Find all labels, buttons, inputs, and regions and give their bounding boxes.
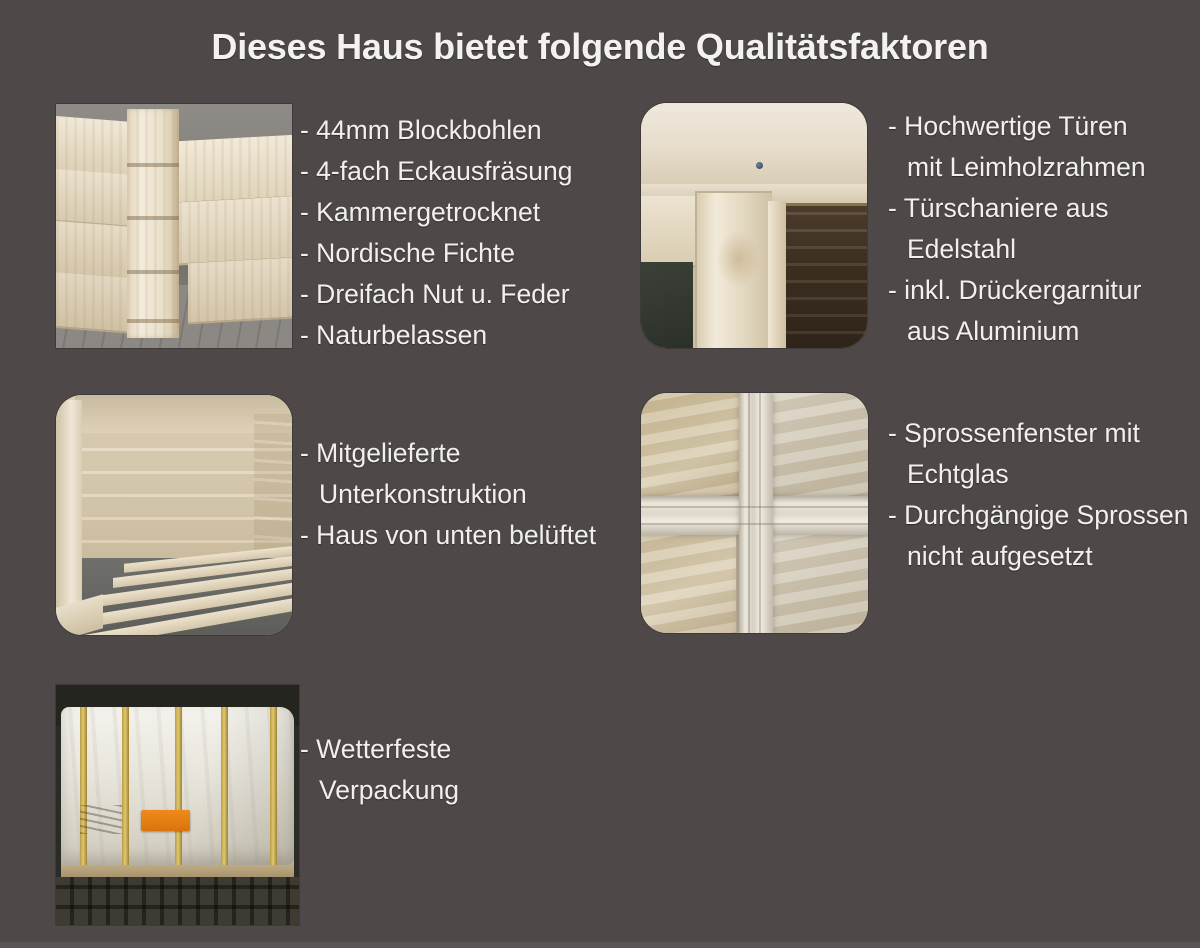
muntin-groove [641,523,868,525]
stencil-marking [80,805,121,834]
list-item: nicht aufgesetzt [888,536,1189,577]
list-item: - Dreifach Nut u. Feder [300,274,573,315]
corner-notch-4 [127,319,179,323]
feature-list-tueren: - Hochwertige Türen mit Leimholzrahmen -… [888,106,1146,352]
list-item: - 44mm Blockbohlen [300,110,573,151]
list-item: - Nordische Fichte [300,233,573,274]
list-item: - Türschaniere aus [888,188,1146,229]
packing-strap [175,707,182,865]
list-item: - 4-fach Eckausfräsung [300,151,573,192]
muntin-groove [641,506,868,508]
wall-plank-right-1 [167,134,292,205]
packing-strap [80,707,87,865]
door-glass-left [641,262,693,348]
glass-pane-bottom-right [773,532,868,633]
list-item: - Wetterfeste [300,729,459,770]
wood-knot [716,230,760,288]
list-item: - Durchgängige Sprossen [888,495,1189,536]
glass-pane-top-right [768,393,868,501]
bottom-divider [0,942,1200,948]
muntin-groove [759,393,761,633]
door-edge-strip [768,201,786,348]
packaged-pallet-photo [56,685,299,925]
list-item: mit Leimholzrahmen [888,147,1146,188]
door-header-board [641,103,867,187]
list-item: - Kammergetrocknet [300,192,573,233]
list-item: - Sprossenfenster mit [888,413,1189,454]
feature-list-unterkonstruktion: - Mitgelieferte Unterkonstruktion - Haus… [300,433,596,556]
feature-list-sprossenfenster: - Sprossenfenster mit Echtglas - Durchgä… [888,413,1189,577]
corner-notch-1 [127,163,179,167]
interior-substructure-photo [56,395,292,635]
log-beam-scene [56,104,292,348]
paving-stones [56,877,299,925]
glass-pane-bottom-left [641,532,736,633]
list-item: - Hochwertige Türen [888,106,1146,147]
list-item: - Naturbelassen [300,315,573,356]
door-left-panel [641,196,698,268]
corner-post [127,109,179,338]
packing-strap [122,707,129,865]
door-frame-scene [641,103,867,348]
list-item: - Haus von unten belüftet [300,515,596,556]
door-frame-photo [641,103,867,348]
page-title: Dieses Haus bietet folgende Qualitätsfak… [0,26,1200,68]
list-item: Verpackung [300,770,459,811]
interior-scene [56,395,292,635]
feature-list-verpackung: - Wetterfeste Verpackung [300,729,459,811]
log-beam-corner-photo [56,104,292,348]
muntin-groove [748,393,750,633]
list-item: Unterkonstruktion [300,474,596,515]
window-scene [641,393,868,633]
muntin-vertical [739,393,773,633]
glass-pane-top-left [641,393,741,501]
list-item: Edelstahl [888,229,1146,270]
packing-strap [221,707,228,865]
interior-dark-opening [783,206,867,348]
corner-notch-3 [127,270,179,274]
interior-left-post [56,400,82,630]
corner-notch-2 [127,216,179,220]
list-item: - inkl. Drückergarnitur [888,270,1146,311]
list-item: - Mitgelieferte [300,433,596,474]
wall-plank-right-2 [179,196,292,266]
orange-shipping-label [141,810,190,832]
packaging-scene [56,685,299,925]
feature-list-blockbohlen: - 44mm Blockbohlen - 4-fach Eckausfräsun… [300,110,573,356]
screw-head [756,162,763,169]
packing-strap [270,707,277,865]
slide-canvas: Dieses Haus bietet folgende Qualitätsfak… [0,0,1200,948]
wall-plank-right-3 [188,257,292,324]
list-item: Echtglas [888,454,1189,495]
window-muntin-photo [641,393,868,633]
list-item: aus Aluminium [888,311,1146,352]
